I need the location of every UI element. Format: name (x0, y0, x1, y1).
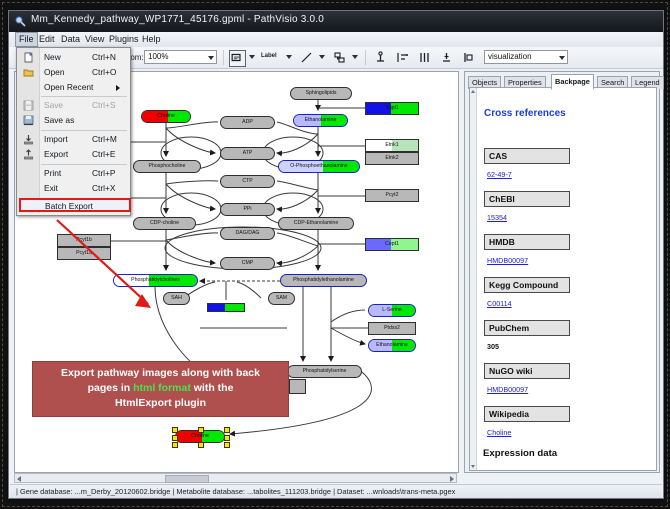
file-menu-item-new[interactable]: New Ctrl+N (18, 50, 129, 65)
xref-source-wikipedia: Wikipedia (484, 406, 570, 422)
xref-source-hmdb: HMDB (484, 234, 570, 250)
title-bar: Mm_Kennedy_pathway_WP1771_45176.gpml - P… (9, 11, 663, 33)
pathvisio-window: Mm_Kennedy_pathway_WP1771_45176.gpml - P… (8, 10, 664, 499)
shape-dropdown-icon[interactable] (352, 55, 358, 59)
callout-highlight: html format (133, 382, 191, 394)
menu-file[interactable]: File (15, 32, 38, 47)
file-menu-item-batch-export[interactable]: Batch Export (19, 198, 131, 212)
file-menu-separator-2 (41, 130, 127, 131)
screenshot-frame: Mm_Kennedy_pathway_WP1771_45176.gpml - P… (0, 0, 670, 509)
xref-source-chebi: ChEBI (484, 191, 570, 207)
import-icon (23, 134, 34, 145)
file-menu-item-exit[interactable]: Exit Ctrl+X (18, 181, 129, 196)
submenu-arrow-icon (116, 85, 120, 91)
file-menu-accel-exit: Ctrl+X (92, 183, 116, 193)
file-menu-label-new: New (44, 52, 61, 62)
status-bar: | Gene database: ...m_Derby_20120602.bri… (10, 484, 662, 498)
xref-value-cas[interactable]: 62-49-7 (487, 170, 512, 179)
xref-value-nugo[interactable]: HMDB00097 (487, 385, 528, 394)
xref-source-cas: CAS (484, 148, 570, 164)
pathvisio-app-icon (15, 16, 26, 27)
file-menu-label-export: Export (44, 149, 68, 159)
save-as-icon (23, 115, 34, 126)
datanode-dropdown-icon[interactable] (249, 55, 255, 59)
file-menu-accel-open: Ctrl+O (92, 67, 116, 77)
callout-line-2-b: with the (191, 382, 234, 394)
xref-source-kegg: Kegg Compound (484, 277, 570, 293)
file-menu-label-open-recent: Open Recent (44, 82, 93, 92)
group-icon[interactable] (461, 50, 476, 65)
annotation-callout: Export pathway images along with back pa… (32, 361, 289, 417)
file-menu-item-print[interactable]: Print Ctrl+P (18, 166, 129, 181)
file-menu-accel-import: Ctrl+M (92, 134, 117, 144)
callout-anchor-node (289, 379, 306, 394)
file-menu-item-open[interactable]: Open Ctrl+O (18, 65, 129, 80)
xref-source-nugo: NuGO wiki (484, 363, 570, 379)
tab-backpage[interactable]: Backpage (551, 74, 594, 90)
file-menu-separator-3 (41, 164, 127, 165)
xref-value-kegg[interactable]: C00114 (487, 299, 512, 308)
chevron-down-icon (208, 56, 214, 60)
file-menu-label-print: Print (44, 168, 61, 178)
xref-value-wikipedia[interactable]: Choline (487, 428, 511, 437)
file-menu-accel-export: Ctrl+E (92, 149, 116, 159)
file-menu-item-save[interactable]: Save Ctrl+S (18, 98, 129, 113)
side-panel-tabstrip: Objects Properties Backpage Search Legen… (468, 74, 656, 88)
scroll-down-icon[interactable] (471, 465, 475, 468)
file-menu-label-import: Import (44, 134, 68, 144)
file-menu-label-exit: Exit (44, 183, 58, 193)
scroll-left-icon[interactable] (17, 476, 21, 482)
anchor-icon[interactable] (373, 50, 388, 65)
callout-line-1: Export pathway images along with back (33, 366, 288, 381)
zoom-value: 100% (148, 52, 168, 61)
file-menu-separator-1 (41, 96, 127, 97)
window-title: Mm_Kennedy_pathway_WP1771_45176.gpml - P… (31, 14, 324, 25)
callout-line-3: HtmlExport plugin (33, 396, 288, 411)
menu-data[interactable]: Data (58, 33, 83, 46)
file-menu-accel-print: Ctrl+P (92, 168, 116, 178)
new-file-icon (23, 52, 34, 63)
file-menu-item-open-recent[interactable]: Open Recent (18, 80, 129, 95)
backpage-body: Cross references CAS 62-49-7 ChEBI 15354… (469, 87, 657, 471)
xref-value-hmdb[interactable]: HMDB00097 (487, 256, 528, 265)
label-dropdown-icon[interactable] (286, 55, 292, 59)
align-left-icon[interactable] (395, 50, 410, 65)
open-folder-icon (23, 67, 34, 78)
visualization-combo[interactable]: visualization (484, 50, 568, 64)
file-menu-label-save-as: Save as (44, 115, 74, 125)
callout-line-2: pages in html format with the (33, 381, 288, 396)
side-panel: Objects Properties Backpage Search Legen… (464, 71, 660, 473)
hscroll-thumb[interactable] (165, 475, 209, 483)
xref-source-pubchem: PubChem (484, 320, 570, 336)
toolbar-separator-2 (223, 50, 224, 65)
status-text: | Gene database: ...m_Derby_20120602.bri… (16, 487, 455, 496)
line-dropdown-icon[interactable] (319, 55, 325, 59)
distribute-icon[interactable] (439, 50, 454, 65)
canvas-hscrollbar[interactable] (14, 473, 457, 483)
zoom-combo[interactable]: 100% (144, 50, 217, 64)
scroll-right-icon[interactable] (450, 476, 454, 482)
line-icon[interactable] (299, 50, 314, 65)
file-menu-item-save-as[interactable]: Save as (18, 113, 129, 128)
datanode-icon[interactable] (229, 50, 246, 67)
save-disk-icon (23, 100, 34, 111)
file-menu-accel-save: Ctrl+S (92, 100, 116, 110)
export-icon (23, 149, 34, 160)
menu-edit[interactable]: Edit (36, 33, 58, 46)
toolbar-separator-3 (365, 50, 366, 65)
align-center-icon[interactable] (417, 50, 432, 65)
menu-bar: File Edit Data View Plugins Help (9, 32, 663, 48)
menu-view[interactable]: View (82, 33, 107, 46)
file-menu-accel-new: Ctrl+N (92, 52, 116, 62)
callout-line-2-a: pages in (88, 382, 134, 394)
cross-references-heading: Cross references (484, 108, 566, 119)
file-menu-label-batch-export: Batch Export (45, 201, 93, 211)
chevron-down-icon-2 (559, 56, 565, 60)
shape-icon[interactable] (332, 50, 347, 65)
expression-data-heading: Expression data (483, 448, 557, 459)
file-menu-label-save: Save (44, 100, 63, 110)
scroll-up-icon[interactable] (471, 90, 475, 93)
menu-plugins[interactable]: Plugins (106, 33, 142, 46)
visualization-value: visualization (488, 52, 532, 61)
label-button[interactable]: Label (261, 53, 277, 59)
file-menu-label-open: Open (44, 67, 65, 77)
file-menu-dropdown[interactable]: New Ctrl+N Open Ctrl+O Open Recent Save … (16, 47, 131, 216)
file-menu-item-export[interactable]: Export Ctrl+E (18, 147, 129, 162)
file-menu-item-import[interactable]: Import Ctrl+M (18, 132, 129, 147)
backpage-scrollbar[interactable] (470, 88, 477, 470)
xref-value-chebi[interactable]: 15354 (487, 213, 507, 222)
xref-value-pubchem: 305 (487, 342, 499, 351)
menu-help[interactable]: Help (139, 33, 164, 46)
